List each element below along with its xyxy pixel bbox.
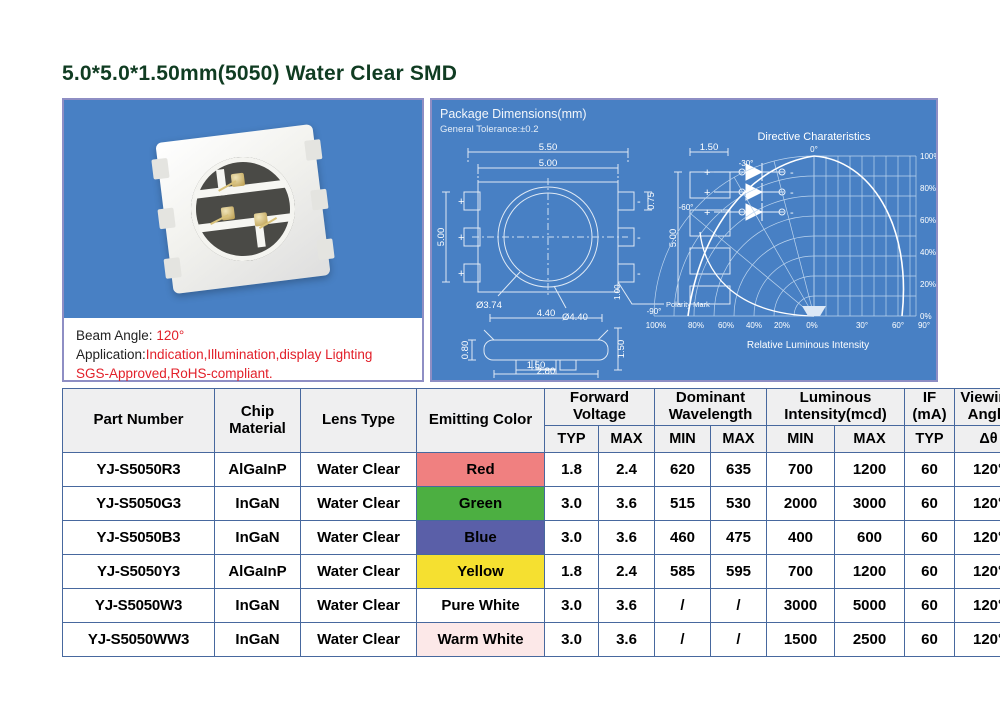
cell-emitting-color: Green: [417, 487, 545, 521]
th-wl-min: MIN: [655, 426, 711, 453]
cell-wl-min: /: [655, 589, 711, 623]
chart-angle-neg90: -90°: [647, 307, 662, 316]
package-dimensions-drawing: Package Dimensions(mm) General Tolerance…: [432, 100, 936, 380]
th-viewing-angle-l2: Angle: [955, 407, 1000, 424]
cell-wl-max: 475: [711, 521, 767, 555]
cell-emitting-color: Yellow: [417, 555, 545, 589]
application-line: Application:Indication,Illumination,disp…: [76, 345, 422, 364]
dim-side-height: 5.00: [668, 229, 679, 248]
cell-viewing-angle: 120°: [955, 589, 1000, 623]
dim-height-left: 5.00: [436, 228, 447, 247]
cell-part-number: YJ-S5050WW3: [63, 623, 215, 657]
cell-part-number: YJ-S5050Y3: [63, 555, 215, 589]
th-vf-max: MAX: [599, 426, 655, 453]
cell-chip-material: InGaN: [215, 487, 301, 521]
th-luminous-intensity-l1: Luminous: [767, 390, 904, 407]
th-if-l1: IF: [905, 390, 954, 407]
cell-if-typ: 60: [905, 555, 955, 589]
polarity-plus-mid: +: [458, 232, 464, 244]
th-dominant-wavelength: Dominant Wavelength: [655, 389, 767, 426]
led-notch-mr: [310, 189, 328, 211]
th-lm-min: MIN: [767, 426, 835, 453]
cell-wl-min: 515: [655, 487, 711, 521]
chart-angle-90: 90°: [918, 321, 930, 330]
led-product-photo: [64, 100, 422, 318]
dim-inner-width: 5.00: [539, 158, 558, 169]
cell-viewing-angle: 120°: [955, 623, 1000, 657]
chart-angle-30: 30°: [856, 321, 868, 330]
dim-body-width: 4.40: [537, 308, 556, 319]
table-row: YJ-S5050W3InGaNWater ClearPure White3.03…: [63, 589, 1000, 623]
cell-wl-min: 460: [655, 521, 711, 555]
cell-lm-max: 3000: [835, 487, 905, 521]
polarity-minus-mid: -: [637, 232, 641, 244]
led-notch-br: [316, 238, 334, 260]
th-chip-material-l1: Chip: [215, 404, 300, 421]
cell-wl-max: /: [711, 623, 767, 657]
cell-vf-typ: 3.0: [545, 589, 599, 623]
directive-characteristics-chart: Directive Charateristics: [646, 131, 936, 351]
led-notch-tl: [151, 158, 169, 180]
polarity-minus-top: -: [637, 196, 641, 208]
led-die-1: [231, 173, 245, 187]
cell-lens-type: Water Clear: [301, 487, 417, 521]
th-wl-max: MAX: [711, 426, 767, 453]
th-luminous-intensity-l2: Intensity(mcd): [767, 407, 904, 424]
th-if: IF (mA): [905, 389, 955, 426]
cell-if-typ: 60: [905, 453, 955, 487]
beam-angle-label: Beam Angle:: [76, 328, 156, 343]
chart-xlabel: Relative Luminous Intensity: [747, 340, 869, 351]
cell-chip-material: AlGaInP: [215, 453, 301, 487]
chart-left-pct-40: 40%: [746, 321, 762, 330]
cell-wl-min: 620: [655, 453, 711, 487]
chart-pct-0: 0%: [920, 312, 932, 321]
th-forward-voltage-l2: Voltage: [545, 407, 654, 424]
cell-viewing-angle: 120°: [955, 521, 1000, 555]
cell-lm-min: 1500: [767, 623, 835, 657]
cell-emitting-color: Pure White: [417, 589, 545, 623]
cell-if-typ: 60: [905, 623, 955, 657]
table-row: YJ-S5050WW3InGaNWater ClearWarm White3.0…: [63, 623, 1000, 657]
th-if-typ: TYP: [905, 426, 955, 453]
cell-if-typ: 60: [905, 589, 955, 623]
cell-lm-max: 600: [835, 521, 905, 555]
chart-pct-60: 60%: [920, 216, 936, 225]
compliance-line: SGS-Approved,RoHS-compliant.: [76, 364, 422, 383]
led-notch-ml: [157, 207, 175, 229]
table-body: YJ-S5050R3AlGaInPWater ClearRed1.82.4620…: [63, 453, 1000, 657]
th-forward-voltage: Forward Voltage: [545, 389, 655, 426]
cell-lm-max: 1200: [835, 453, 905, 487]
cell-lm-max: 2500: [835, 623, 905, 657]
th-chip-material-l2: Material: [215, 421, 300, 438]
cell-if-typ: 60: [905, 487, 955, 521]
page-title: 5.0*5.0*1.50mm(5050) Water Clear SMD: [62, 62, 457, 86]
chart-pct-100: 100%: [920, 152, 936, 161]
cell-wl-min: /: [655, 623, 711, 657]
cell-lm-min: 400: [767, 521, 835, 555]
cell-chip-material: AlGaInP: [215, 555, 301, 589]
cell-vf-typ: 3.0: [545, 487, 599, 521]
schematic-minus-3: -: [790, 207, 794, 219]
th-lens-type: Lens Type: [301, 389, 417, 453]
cell-lm-min: 3000: [767, 589, 835, 623]
chart-left-pct-80: 80%: [688, 321, 704, 330]
led-notch-tr: [304, 139, 322, 161]
chart-title: Directive Charateristics: [757, 131, 871, 143]
cell-vf-max: 3.6: [599, 521, 655, 555]
chart-angle-neg60: -60°: [679, 203, 694, 212]
polarity-plus-bot: +: [458, 268, 464, 280]
chart-source-marker: [802, 306, 826, 316]
cell-lm-min: 2000: [767, 487, 835, 521]
drawing-title: Package Dimensions(mm): [440, 107, 587, 121]
th-part-number: Part Number: [63, 389, 215, 453]
cell-emitting-color: Blue: [417, 521, 545, 555]
polarity-minus-bot: -: [637, 268, 641, 280]
th-chip-material: Chip Material: [215, 389, 301, 453]
chart-angle-60: 60°: [892, 321, 904, 330]
cell-lens-type: Water Clear: [301, 521, 417, 555]
cell-vf-typ: 1.8: [545, 555, 599, 589]
th-forward-voltage-l1: Forward: [545, 390, 654, 407]
cell-emitting-color: Warm White: [417, 623, 545, 657]
cell-vf-max: 3.6: [599, 487, 655, 521]
schematic-plus-3: +: [704, 207, 710, 219]
cell-part-number: YJ-S5050W3: [63, 589, 215, 623]
chart-left-pct-100: 100%: [646, 321, 666, 330]
cell-vf-max: 2.4: [599, 453, 655, 487]
cell-lm-min: 700: [767, 555, 835, 589]
table-row: YJ-S5050B3InGaNWater ClearBlue3.03.64604…: [63, 521, 1000, 555]
cell-wl-min: 585: [655, 555, 711, 589]
th-dominant-wavelength-l2: Wavelength: [655, 407, 766, 424]
cell-viewing-angle: 120°: [955, 555, 1000, 589]
th-lm-max: MAX: [835, 426, 905, 453]
th-viewing-angle: Viewing Angle: [955, 389, 1000, 426]
cell-wl-max: 635: [711, 453, 767, 487]
cell-lm-min: 700: [767, 453, 835, 487]
cell-part-number: YJ-S5050G3: [63, 487, 215, 521]
table-row: YJ-S5050G3InGaNWater ClearGreen3.03.6515…: [63, 487, 1000, 521]
th-if-l2: (mA): [905, 407, 954, 424]
th-viewing-angle-delta: Δθ: [955, 426, 1000, 453]
cell-lens-type: Water Clear: [301, 623, 417, 657]
th-viewing-angle-l1: Viewing: [955, 390, 1000, 407]
cell-vf-typ: 3.0: [545, 623, 599, 657]
led-reflector-cup: [185, 151, 301, 267]
dim-lens-inner-dia: Ø3.74: [476, 300, 502, 311]
cell-lens-type: Water Clear: [301, 589, 417, 623]
polarity-plus-top: +: [458, 196, 464, 208]
cell-vf-typ: 3.0: [545, 521, 599, 555]
table-header-row-1: Part Number Chip Material Lens Type Emit…: [63, 389, 1000, 426]
schematic-minus-2: -: [790, 187, 794, 199]
cell-wl-max: 530: [711, 487, 767, 521]
product-info-text: Beam Angle: 120° Application:Indication,…: [64, 318, 422, 380]
dim-polarity: 1.00: [613, 284, 622, 300]
cell-lens-type: Water Clear: [301, 453, 417, 487]
beam-angle-line: Beam Angle: 120°: [76, 326, 422, 345]
cell-vf-max: 2.4: [599, 555, 655, 589]
dim-pad-span: 2.80: [537, 366, 556, 377]
led-specification-table: Part Number Chip Material Lens Type Emit…: [62, 388, 1000, 657]
dim-body-thickness: 0.80: [460, 341, 471, 360]
cell-if-typ: 60: [905, 521, 955, 555]
cell-lens-type: Water Clear: [301, 555, 417, 589]
application-value: Indication,Illumination,display Lighting: [146, 347, 373, 362]
dim-outer-width: 5.50: [539, 142, 558, 153]
th-emitting-color: Emitting Color: [417, 389, 545, 453]
chart-left-pct-20: 20%: [774, 321, 790, 330]
cell-lm-max: 5000: [835, 589, 905, 623]
cell-viewing-angle: 120°: [955, 453, 1000, 487]
cell-lm-max: 1200: [835, 555, 905, 589]
schematic-plus-1: +: [704, 167, 710, 179]
product-photo-panel: Beam Angle: 120° Application:Indication,…: [62, 98, 424, 382]
chart-left-pct-60: 60%: [718, 321, 734, 330]
dim-pad-pitch: 0.75: [646, 192, 656, 210]
application-label: Application:: [76, 347, 146, 362]
cell-chip-material: InGaN: [215, 521, 301, 555]
led-notch-bl: [164, 257, 182, 279]
led-package-body: [155, 124, 330, 294]
table-row: YJ-S5050R3AlGaInPWater ClearRed1.82.4620…: [63, 453, 1000, 487]
drawing-tolerance: General Tolerance:±0.2: [440, 124, 539, 135]
cell-vf-typ: 1.8: [545, 453, 599, 487]
package-drawing-panel: Package Dimensions(mm) General Tolerance…: [430, 98, 938, 382]
th-vf-typ: TYP: [545, 426, 599, 453]
dim-side-width: 1.50: [700, 142, 719, 153]
cell-viewing-angle: 120°: [955, 487, 1000, 521]
dim-body-height: 1.50: [616, 340, 627, 359]
beam-angle-value: 120°: [156, 328, 184, 343]
cell-wl-max: 595: [711, 555, 767, 589]
th-dominant-wavelength-l1: Dominant: [655, 390, 766, 407]
chart-pct-80: 80%: [920, 184, 936, 193]
cell-emitting-color: Red: [417, 453, 545, 487]
cell-chip-material: InGaN: [215, 623, 301, 657]
cell-part-number: YJ-S5050R3: [63, 453, 215, 487]
table-row: YJ-S5050Y3AlGaInPWater ClearYellow1.82.4…: [63, 555, 1000, 589]
chart-angle-neg30: -30°: [739, 159, 754, 168]
chart-angle-0: 0°: [810, 145, 818, 154]
chart-pct-20: 20%: [920, 280, 936, 289]
cell-wl-max: /: [711, 589, 767, 623]
cell-part-number: YJ-S5050B3: [63, 521, 215, 555]
cell-chip-material: InGaN: [215, 589, 301, 623]
cell-vf-max: 3.6: [599, 589, 655, 623]
chart-pct-40: 40%: [920, 248, 936, 257]
th-luminous-intensity: Luminous Intensity(mcd): [767, 389, 905, 426]
cell-vf-max: 3.6: [599, 623, 655, 657]
chart-left-pct-0: 0%: [806, 321, 818, 330]
